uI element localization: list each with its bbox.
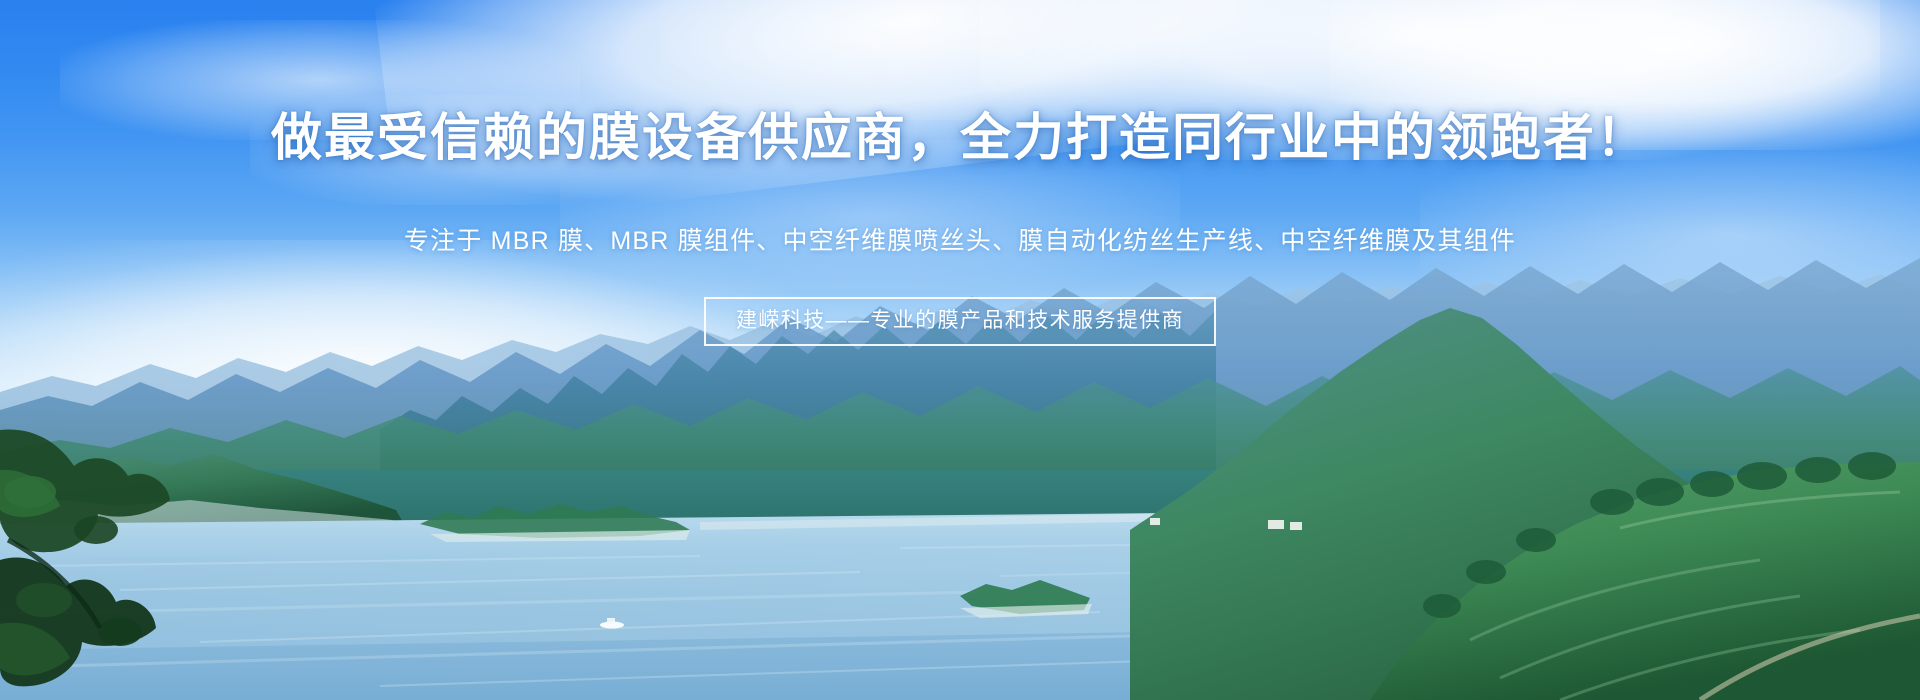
banner-tagline-wrap: 建嵘科技——专业的膜产品和技术服务提供商 xyxy=(0,297,1920,346)
banner-headline: 做最受信赖的膜设备供应商，全力打造同行业中的领跑者！ xyxy=(0,108,1920,168)
hero-banner: 做最受信赖的膜设备供应商，全力打造同行业中的领跑者！ 专注于 MBR 膜、MBR… xyxy=(0,0,1920,700)
banner-tagline-box: 建嵘科技——专业的膜产品和技术服务提供商 xyxy=(704,297,1216,346)
banner-subtitle: 专注于 MBR 膜、MBR 膜组件、中空纤维膜喷丝头、膜自动化纺丝生产线、中空纤… xyxy=(0,224,1920,258)
banner-copy: 做最受信赖的膜设备供应商，全力打造同行业中的领跑者！ 专注于 MBR 膜、MBR… xyxy=(0,0,1920,700)
